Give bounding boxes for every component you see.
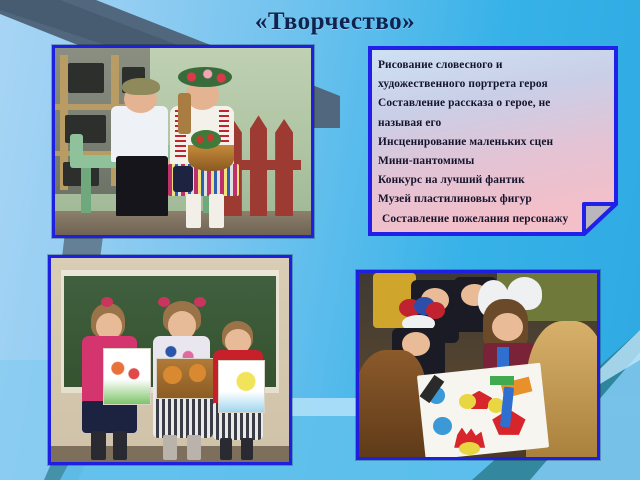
callout-line: Инсценирование маленьких сцен [378, 133, 610, 152]
callout-line: художественного портрета героя [378, 75, 610, 94]
photo-drawings [48, 255, 292, 465]
callout-box: Рисование словесного и художественного п… [368, 46, 618, 236]
callout-line: Рисование словесного и [378, 56, 610, 75]
photo-collage-image [359, 273, 597, 457]
callout-line: Составление пожелания персонажу [378, 210, 610, 229]
callout-line: Составление рассказа о герое, не [378, 94, 610, 113]
callout-line: Мини-пантомимы [378, 152, 610, 171]
callout-line: называя его [378, 114, 610, 133]
slide: «Творчество» [0, 0, 640, 480]
photo-drawings-image [51, 258, 289, 462]
callout-text-list: Рисование словесного и художественного п… [374, 54, 614, 224]
callout-line: Музей пластилиновых фигур [378, 190, 610, 209]
photo-bench-image [55, 48, 311, 235]
page-title: «Творчество» [0, 8, 640, 36]
photo-collage [356, 270, 600, 460]
photo-bench [52, 45, 314, 238]
callout-line: Конкурс на лучший фантик [378, 171, 610, 190]
